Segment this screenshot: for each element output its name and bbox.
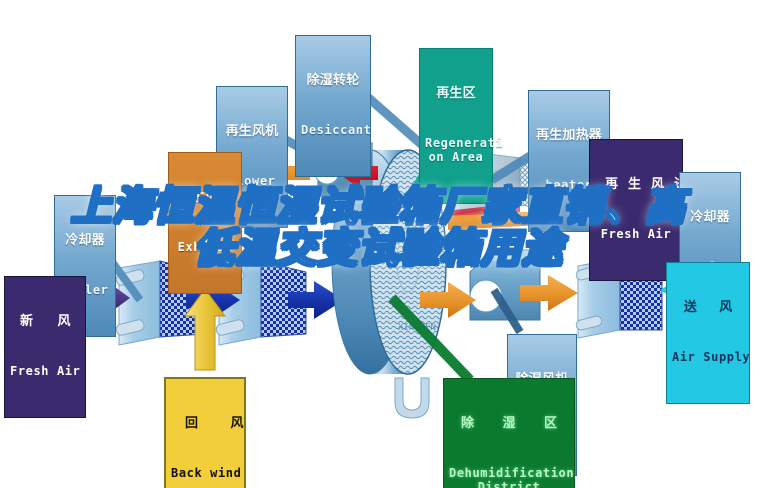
label-back-wind-cn: 回 风 — [171, 417, 239, 432]
label-fresh-air-in-en: Fresh Air — [10, 365, 80, 378]
label-air-supply-cn: 送 风 — [672, 301, 744, 316]
label-desiccant-rotor: 除湿转轮 Desiccant — [295, 35, 371, 177]
label-fresh-air-in: 新 风 Fresh Air — [4, 276, 86, 418]
label-air-supply-en: Air Supply — [672, 351, 744, 364]
label-regen-fresh-air-in: 再生风进 Fresh Air — [589, 139, 683, 281]
label-regen-fresh-air-in-en: Fresh Air — [595, 228, 677, 241]
label-back-wind: 回 风 Back wind — [164, 377, 246, 488]
label-cooler-right-cn: 冷却器 — [685, 211, 735, 226]
label-regen-blower-cn: 再生风机 — [222, 125, 282, 140]
label-regen-fresh-air-in-cn: 再生风进 — [595, 178, 677, 193]
label-regeneration-area-en: Regenerati on Area — [425, 137, 487, 164]
label-regen-exhaust-en: Exhaust — [174, 241, 236, 254]
label-dehumidification-district-cn: 除 湿 区 — [449, 417, 569, 432]
label-desiccant-rotor-en: Desiccant — [301, 124, 365, 137]
label-regeneration-area-cn: 再生区 — [425, 87, 487, 102]
label-dehumidification-district: 除 湿 区 Dehumidification District — [443, 378, 575, 488]
label-back-wind-en: Back wind — [171, 467, 239, 480]
diagram-canvas: XINCHEN — [0, 0, 757, 488]
label-regen-exhaust-cn: 再生风出 — [174, 191, 236, 206]
label-regen-exhaust: 再生风出 Exhaust — [168, 152, 242, 294]
label-regeneration-area: 再生区 Regenerati on Area — [419, 48, 493, 204]
label-fresh-air-in-cn: 新 风 — [10, 315, 80, 330]
label-air-supply: 送 风 Air Supply — [666, 262, 750, 404]
label-desiccant-rotor-cn: 除湿转轮 — [301, 74, 365, 89]
label-dehumidification-district-en: Dehumidification District — [449, 467, 569, 488]
label-cooler-left-cn: 冷却器 — [60, 234, 110, 249]
